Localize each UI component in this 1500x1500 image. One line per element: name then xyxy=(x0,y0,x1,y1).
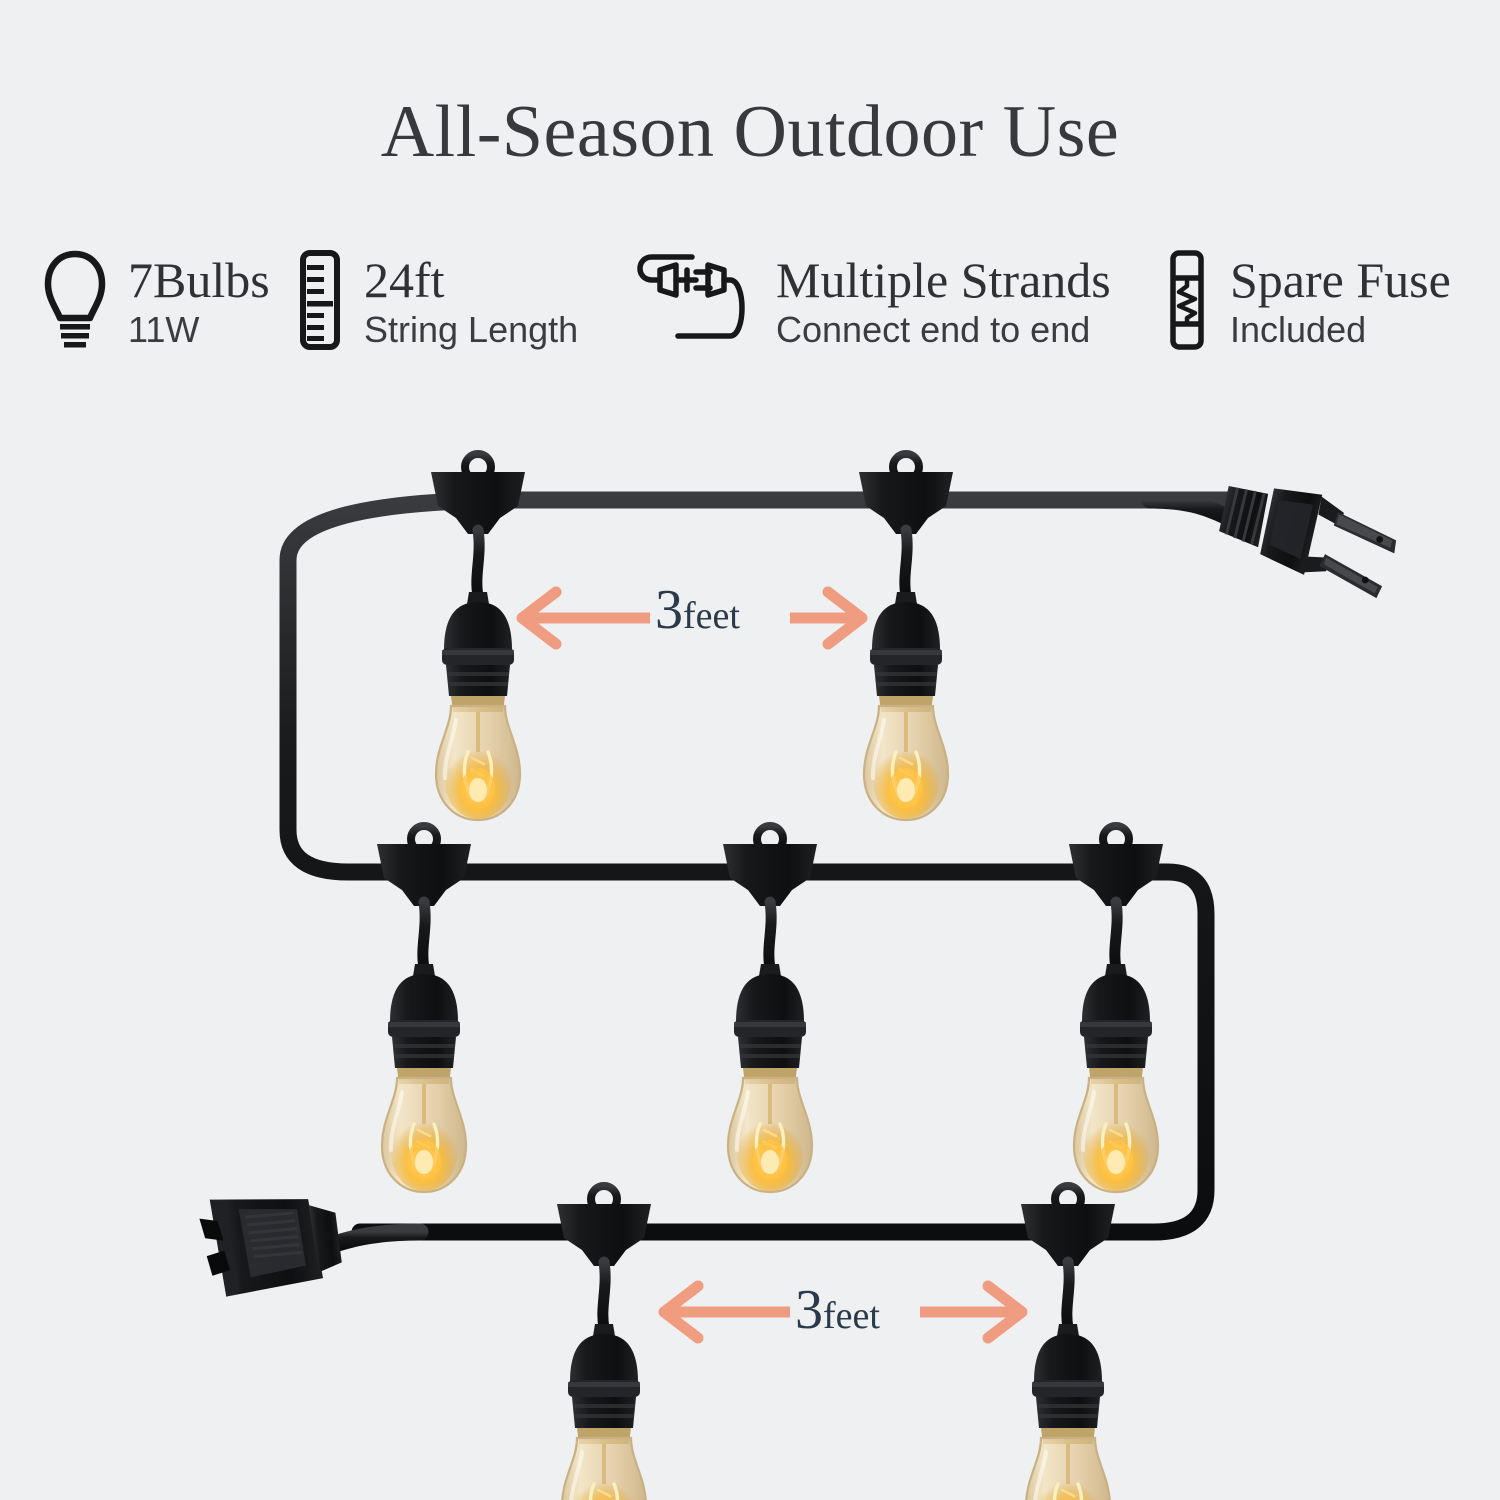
female-socket-icon xyxy=(198,1189,344,1299)
string-light-layout-diagram xyxy=(0,0,1500,1500)
dimension-unit-bottom: feet xyxy=(823,1295,880,1337)
dimension-number-top: 3 xyxy=(655,579,683,641)
bulb-assembly xyxy=(1069,826,1163,1192)
dimension-unit-top: feet xyxy=(683,595,740,637)
infographic-page: All-Season Outdoor Use 7Bulbs 11W xyxy=(0,0,1500,1500)
dimension-number-bottom: 3 xyxy=(795,1279,823,1341)
dimension-label-bottom: 3feet xyxy=(795,1278,880,1342)
dimension-label-top: 3feet xyxy=(655,578,740,642)
bulb-assembly xyxy=(431,454,525,820)
bulb-assembly xyxy=(723,826,817,1192)
bulb-assembly xyxy=(859,454,953,820)
bulb-assembly xyxy=(1021,1186,1115,1500)
bulb-assembly xyxy=(557,1186,651,1500)
male-plug-icon xyxy=(1210,468,1404,599)
bulb-assembly xyxy=(377,826,471,1192)
